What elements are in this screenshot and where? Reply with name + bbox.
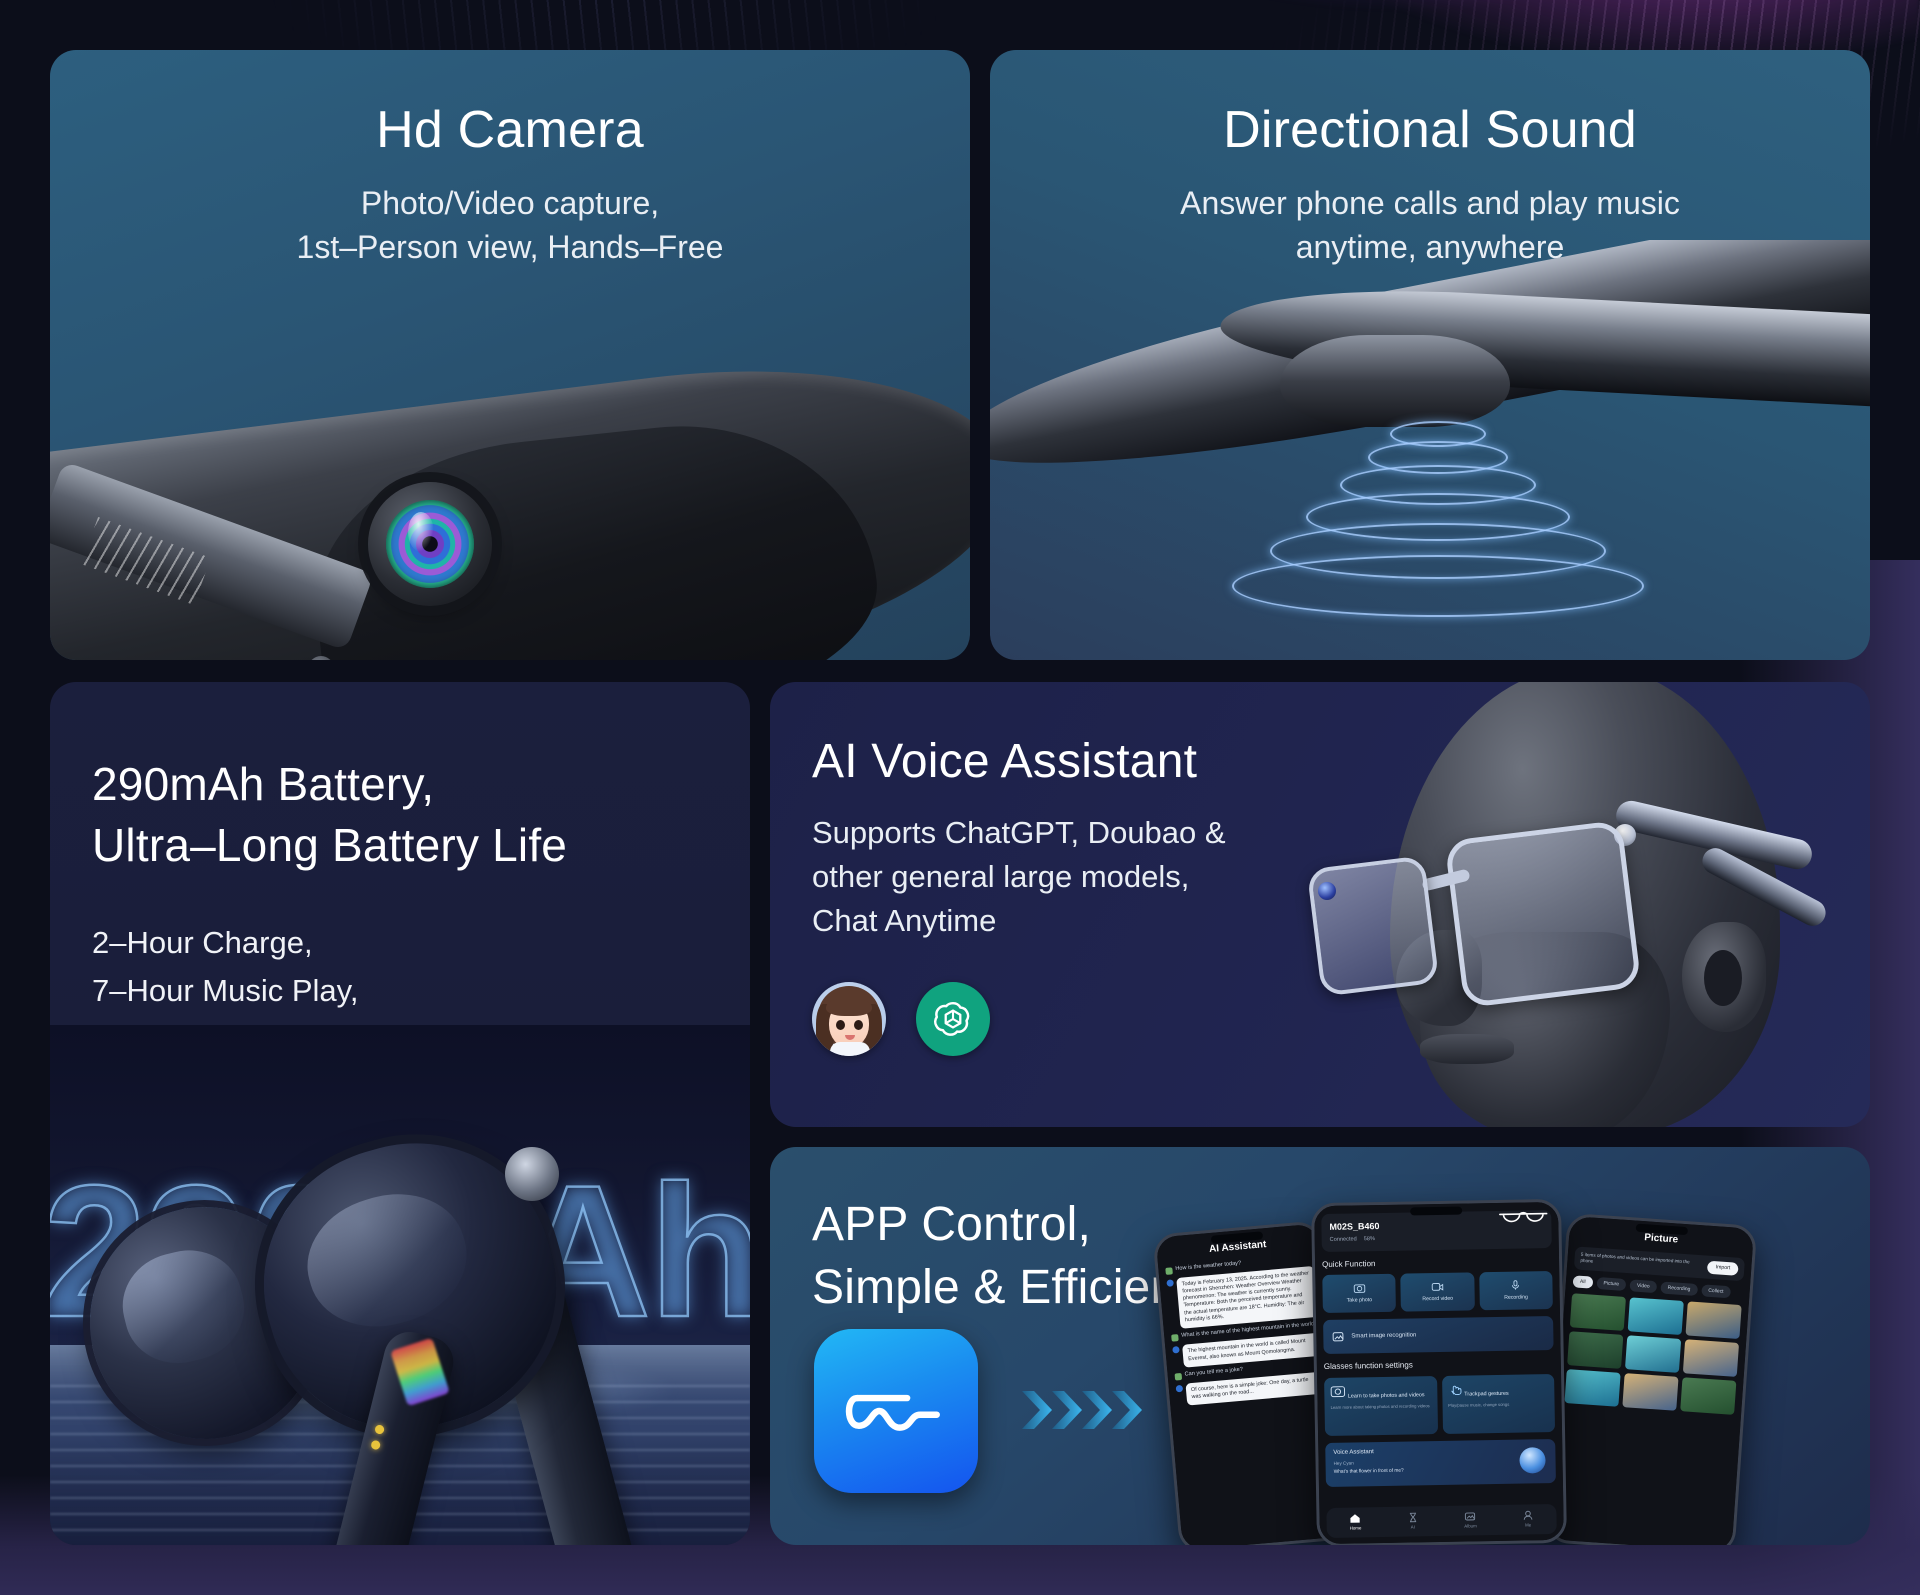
battery-percent: 58% (1364, 1236, 1375, 1244)
directional-sound-product-image (990, 240, 1870, 660)
photo-thumbnail[interactable] (1622, 1373, 1678, 1411)
app-phone-mockups: AI Assistant How is the weather today? T… (1164, 1201, 1864, 1545)
feature-panel-ai-voice-assistant: AI Voice Assistant Supports ChatGPT, Dou… (770, 682, 1870, 1127)
tab-recording[interactable]: Recording (1660, 1281, 1698, 1296)
user-avatar-icon (1165, 1267, 1173, 1275)
photo-thumbnail[interactable] (1564, 1369, 1620, 1407)
worn-glasses-right-lens (1444, 820, 1641, 1008)
quick-action-label: Take photo (1347, 1298, 1373, 1305)
avatar-eye-right (854, 1020, 863, 1030)
battery-spec-item: 2–Hour Charge, (92, 919, 750, 967)
nav-item-me[interactable]: Me (1522, 1510, 1533, 1528)
mannequin-lips (1420, 1034, 1514, 1064)
album-icon (1465, 1511, 1476, 1521)
nav-item-home[interactable]: Home (1349, 1513, 1361, 1531)
doubao-avatar-icon (812, 982, 886, 1056)
chat-text: How is the weather today? (1175, 1260, 1241, 1273)
microphone-icon (1510, 1280, 1522, 1291)
person-icon (1522, 1510, 1533, 1520)
lens-glare (408, 512, 434, 552)
hd-camera-title: Hd Camera (50, 100, 970, 160)
setting-card-title: Learn to take photos and videos (1348, 1393, 1425, 1400)
phone-picture-gallery: Picture 5 items of photos and videos can… (1545, 1213, 1758, 1545)
smart-image-recognition-label: Smart image recognition (1351, 1332, 1416, 1341)
speaker-module-bulge (1280, 335, 1510, 427)
quick-function-header: Quick Function (1322, 1256, 1552, 1271)
photo-thumbnail[interactable] (1685, 1302, 1741, 1340)
photo-thumbnail[interactable] (1683, 1340, 1739, 1378)
app-control-title-line2: Simple & Efficient (812, 1261, 1191, 1314)
hand-gesture-icon (1448, 1382, 1463, 1396)
worn-smart-glasses (1314, 810, 1784, 1010)
setting-card-desc: Learn more about taking photos and recor… (1331, 1403, 1432, 1410)
settings-card-row: Learn to take photos and videos Learn mo… (1324, 1374, 1555, 1436)
ai-icon (1407, 1512, 1418, 1522)
device-meta: Connected 58% (1330, 1233, 1544, 1244)
bot-avatar-icon (1172, 1346, 1180, 1354)
worn-glasses-side-lens-icon (1318, 882, 1336, 900)
home-screen: M02S_B460 Connected 58% Quick Function T… (1314, 1202, 1564, 1544)
photo-thumbnail-grid (1564, 1294, 1741, 1416)
tab-video[interactable]: Video (1630, 1279, 1658, 1294)
user-avatar-icon (1171, 1334, 1179, 1342)
nav-item-album[interactable]: Album (1464, 1511, 1477, 1529)
battery-title-line1: 290mAh Battery, (92, 758, 434, 810)
connection-status: Connected (1330, 1237, 1357, 1245)
glasses-settings-header: Glasses function settings (1324, 1358, 1554, 1373)
battery-title: 290mAh Battery, Ultra–Long Battery Life (92, 754, 750, 875)
glasses-hinge-camera (505, 1147, 559, 1201)
photo-thumbnail[interactable] (1567, 1331, 1623, 1369)
worn-glasses-left-lens (1307, 855, 1440, 996)
feature-panel-directional-sound: Directional Sound Answer phone calls and… (990, 50, 1870, 660)
chat-text: Can you tell me a joke? (1184, 1366, 1243, 1379)
camera-icon (1353, 1283, 1365, 1294)
quick-action-label: Record video (1422, 1296, 1453, 1304)
battery-product-image: 290mAh (50, 1025, 750, 1545)
camera-icon (1330, 1384, 1346, 1398)
phone-home-screen: M02S_B460 Connected 58% Quick Function T… (1311, 1199, 1567, 1545)
battery-spec-item: 7–Hour Music Play, (92, 967, 750, 1015)
bottom-navigation-bar: Home AI Album Me (1326, 1504, 1556, 1538)
hd-camera-sub-line1: Photo/Video capture, (361, 185, 659, 221)
app-control-title-line1: APP Control, (812, 1198, 1091, 1251)
hd-camera-subtitle: Photo/Video capture, 1st–Person view, Ha… (50, 182, 970, 269)
voice-assistant-query: What's that flower in front of me? (1334, 1466, 1548, 1476)
ai-voice-sub-line2: other general large models, (812, 859, 1189, 894)
ai-partner-icons (812, 982, 990, 1056)
device-status-card: M02S_B460 Connected 58% (1321, 1210, 1552, 1252)
openai-chatgpt-icon (916, 982, 990, 1056)
chat-text: Today is February 13, 2025. According to… (1176, 1265, 1318, 1329)
ai-voice-sub-line3: Chat Anytime (812, 903, 996, 938)
directional-sound-sub-line1: Answer phone calls and play music (1180, 185, 1680, 221)
quick-action-recording[interactable]: Recording (1479, 1271, 1553, 1310)
voice-assistant-card[interactable]: Voice Assistant Hey Cyan What's that flo… (1325, 1439, 1556, 1487)
sound-ring-6 (1232, 555, 1644, 617)
smart-glasses-app-icon[interactable] (814, 1329, 978, 1493)
photo-thumbnail[interactable] (1625, 1335, 1681, 1373)
picture-screen: Picture 5 items of photos and videos can… (1548, 1216, 1754, 1545)
tab-collect[interactable]: Collect (1701, 1284, 1731, 1299)
video-icon (1431, 1281, 1443, 1292)
feature-panel-app-control: APP Control, Simple & Efficient (770, 1147, 1870, 1545)
import-button[interactable]: Import (1707, 1260, 1739, 1275)
setting-card-learn-photos[interactable]: Learn to take photos and videos Learn mo… (1324, 1376, 1437, 1436)
ai-voice-product-image (1250, 682, 1870, 1127)
nav-label: AI (1411, 1524, 1415, 1530)
quick-action-take-photo[interactable]: Take photo (1322, 1274, 1396, 1313)
avatar-fringe (826, 998, 872, 1016)
flow-arrow-chevrons (1020, 1387, 1152, 1433)
ai-voice-sub-line1: Supports ChatGPT, Doubao & (812, 815, 1226, 850)
sound-wave-icon (1228, 415, 1648, 615)
quick-action-record-video[interactable]: Record video (1401, 1273, 1475, 1312)
hd-camera-product-image (50, 260, 970, 660)
voice-assistant-title: Voice Assistant (1333, 1449, 1373, 1456)
feature-panel-hd-camera: Hd Camera Photo/Video capture, 1st–Perso… (50, 50, 970, 660)
nav-label: Home (1350, 1525, 1362, 1531)
nav-item-ai[interactable]: AI (1407, 1512, 1418, 1530)
feature-grid: Hd Camera Photo/Video capture, 1st–Perso… (0, 0, 1920, 1595)
bot-avatar-icon (1166, 1279, 1174, 1287)
user-avatar-icon (1175, 1373, 1183, 1381)
chat-message-bot: Today is February 13, 2025. According to… (1166, 1265, 1318, 1329)
avatar-eye-left (836, 1020, 845, 1030)
tab-picture[interactable]: Picture (1596, 1276, 1626, 1291)
photo-thumbnail[interactable] (1628, 1298, 1684, 1336)
home-icon (1350, 1513, 1361, 1523)
quick-action-label: Recording (1504, 1295, 1528, 1302)
quick-function-row: Take photo Record video Recording (1322, 1271, 1553, 1313)
photo-thumbnail[interactable] (1680, 1377, 1736, 1415)
photo-thumbnail[interactable] (1570, 1294, 1626, 1332)
nav-label: Album (1464, 1523, 1477, 1529)
smart-image-recognition-button[interactable]: Smart image recognition (1323, 1316, 1554, 1354)
directional-sound-title: Directional Sound (990, 100, 1870, 160)
bot-avatar-icon (1176, 1385, 1184, 1393)
setting-card-trackpad[interactable]: Trackpad gestures Play/pause music, chan… (1442, 1374, 1555, 1434)
avatar-shoulders (830, 1042, 870, 1056)
image-recognition-icon (1332, 1331, 1345, 1343)
nav-label: Me (1525, 1522, 1531, 1528)
feature-panel-battery: 290mAh Battery, Ultra–Long Battery Life … (50, 682, 750, 1545)
camera-lens-housing (368, 482, 492, 606)
glasses-outline-icon (1496, 1208, 1550, 1229)
phone-notch (1410, 1207, 1462, 1216)
battery-title-line2: Ultra–Long Battery Life (92, 819, 567, 871)
import-notice-row: 5 items of photos and videos can be impo… (1574, 1246, 1745, 1281)
setting-card-title: Trackpad gestures (1464, 1391, 1509, 1398)
import-notice-text: 5 items of photos and videos can be impo… (1580, 1252, 1703, 1273)
tab-all[interactable]: All (1573, 1275, 1593, 1289)
setting-card-desc: Play/pause music, change songs (1448, 1401, 1549, 1408)
